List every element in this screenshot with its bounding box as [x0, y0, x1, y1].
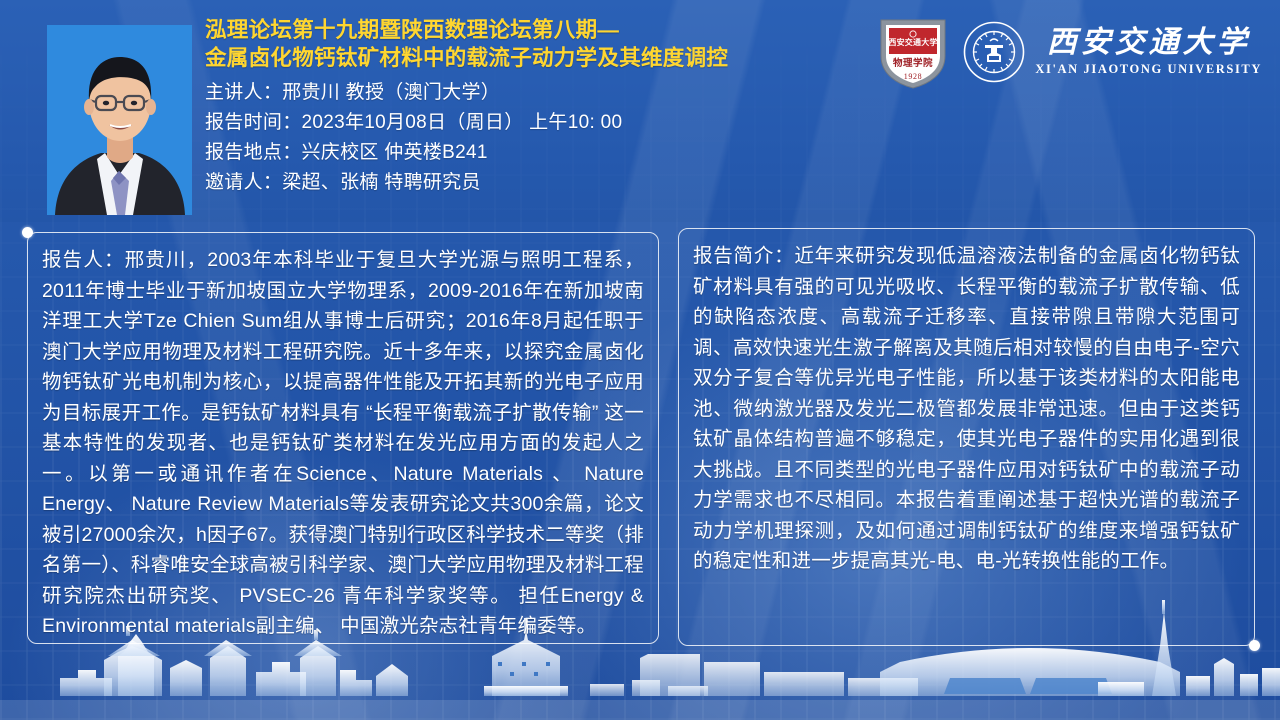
speaker-bio-text: 报告人：邢贵川，2003年本科毕业于复旦大学光源与照明工程系，2011年博士毕业… — [42, 245, 644, 642]
logo-group: 西安交通大学 物理学院 1928 — [877, 14, 1262, 90]
info-datetime: 报告时间：2023年10月08日（周日） 上午10: 00 — [205, 108, 895, 138]
poster-root: 泓理论坛第十九期暨陕西数理论坛第八期— 金属卤化物钙钛矿材料中的载流子动力学及其… — [0, 0, 1280, 720]
panel-corner-dot — [1249, 640, 1260, 651]
physics-school-shield-icon: 西安交通大学 物理学院 1928 — [877, 14, 949, 90]
talk-abstract-panel: 报告简介：近年来研究发现低温溶液法制备的金属卤化物钙钛矿材料具有强的可见光吸收、… — [678, 228, 1255, 646]
talk-abstract-text: 报告简介：近年来研究发现低温溶液法制备的金属卤化物钙钛矿材料具有强的可见光吸收、… — [693, 241, 1240, 577]
header-text-block: 泓理论坛第十九期暨陕西数理论坛第八期— 金属卤化物钙钛矿材料中的载流子动力学及其… — [205, 16, 895, 198]
info-host: 邀请人：梁超、张楠 特聘研究员 — [205, 168, 895, 198]
page-title: 泓理论坛第十九期暨陕西数理论坛第八期— 金属卤化物钙钛矿材料中的载流子动力学及其… — [205, 16, 895, 72]
shield-year-label: 1928 — [904, 72, 922, 81]
speaker-bio-panel: 报告人：邢贵川，2003年本科毕业于复旦大学光源与照明工程系，2011年博士毕业… — [27, 232, 659, 644]
xjtu-wordmark-cn: 西安交通大学 — [1047, 28, 1251, 58]
info-venue: 报告地点：兴庆校区 仲英楼B241 — [205, 138, 895, 168]
shield-bottom-label: 物理学院 — [893, 57, 933, 69]
speaker-portrait — [47, 25, 192, 215]
title-line-1: 泓理论坛第十九期暨陕西数理论坛第八期— — [205, 18, 619, 42]
title-line-2: 金属卤化物钙钛矿材料中的载流子动力学及其维度调控 — [205, 44, 895, 72]
xjtu-seal-icon — [963, 21, 1025, 83]
shield-top-label: 西安交通大学 — [889, 37, 938, 47]
xjtu-wordmark-en: XI'AN JIAOTONG UNIVERSITY — [1035, 63, 1262, 76]
xjtu-wordmark: 西安交通大学 XI'AN JIAOTONG UNIVERSITY — [1035, 28, 1262, 76]
university-logo: 西安交通大学 XI'AN JIAOTONG UNIVERSITY — [963, 21, 1262, 83]
info-speaker: 主讲人：邢贵川 教授（澳门大学） — [205, 78, 895, 108]
panel-corner-dot — [22, 227, 33, 238]
